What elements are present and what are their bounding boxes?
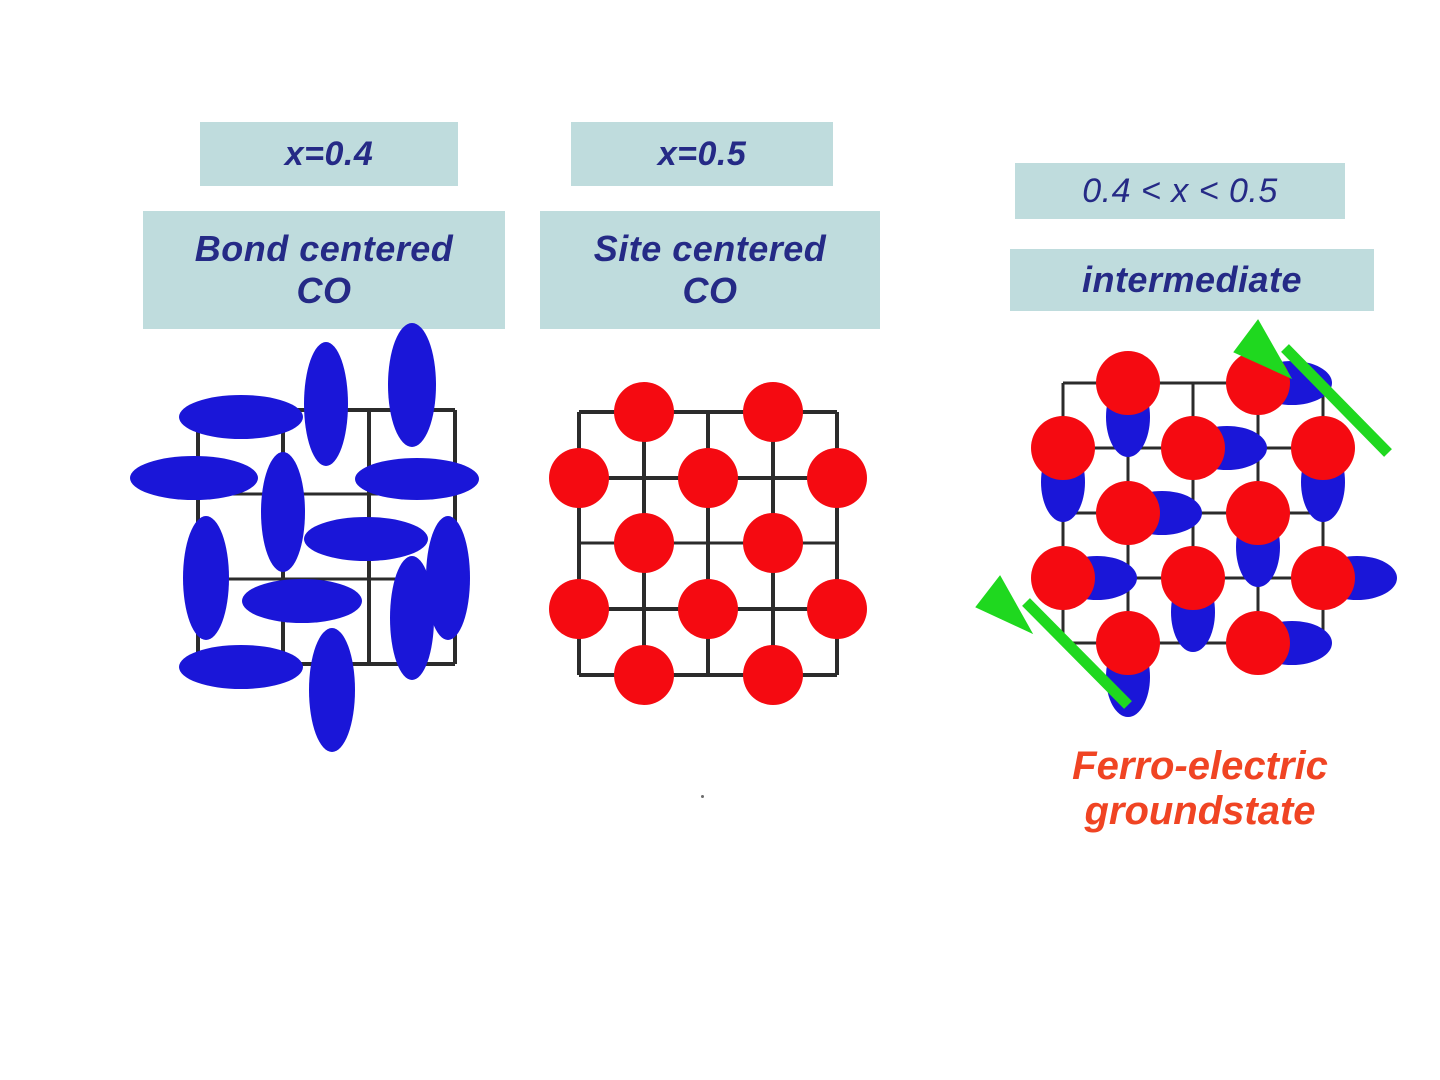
panel-intermediate-x-label: 0.4 < x < 0.5	[1015, 163, 1345, 219]
bond-grid-lines	[198, 410, 455, 664]
panel-site-x-label: x=0.5	[571, 122, 833, 186]
panel-intermediate-name-label: intermediate	[1010, 249, 1374, 311]
panel-bond-name-label: Bond centered CO	[143, 211, 505, 329]
ferroelectric-caption: Ferro-electric groundstate	[1020, 744, 1380, 834]
intermediate-lobes	[1041, 361, 1397, 717]
bond-lobes	[130, 323, 479, 752]
panel-bond-x-label: x=0.4	[200, 122, 458, 186]
stray-dot	[701, 795, 704, 798]
intermediate-grid-lines	[1063, 383, 1323, 643]
polarization-arrow-upper	[1234, 320, 1388, 453]
polarization-arrow-lower	[976, 576, 1128, 705]
site-grid-lines	[579, 412, 837, 675]
polarization-arrows	[976, 320, 1388, 705]
site-charges	[549, 382, 867, 705]
figure-canvas: x=0.4 Bond centered CO	[0, 0, 1440, 1080]
intermediate-charges	[1031, 351, 1355, 675]
panel-site-name-label: Site centered CO	[540, 211, 880, 329]
